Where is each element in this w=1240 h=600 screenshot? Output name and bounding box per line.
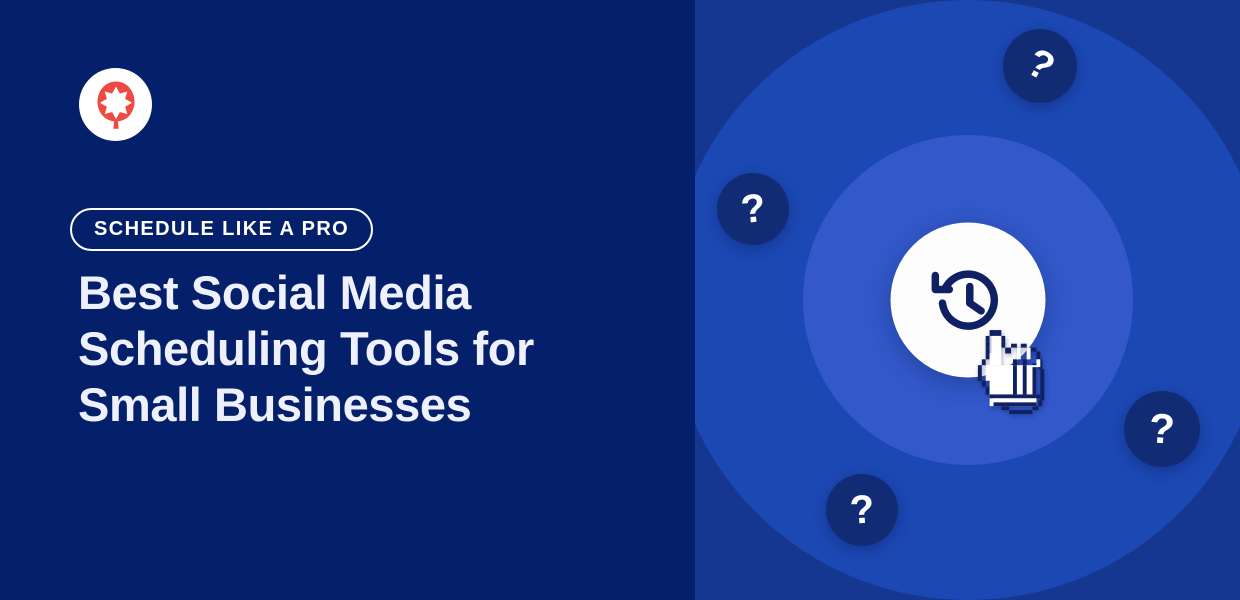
question-mark-glyph: ? xyxy=(1020,42,1060,89)
question-bubble-bottom-left: ? xyxy=(826,474,898,546)
banner-canvas: SCHEDULE LIKE A PRO Best Social Media Sc… xyxy=(0,0,1240,600)
question-bubble-top-right: ? xyxy=(1003,29,1077,103)
question-mark-glyph: ? xyxy=(1148,407,1177,451)
brand-logo[interactable] xyxy=(79,68,152,141)
balloon-sparkle-icon xyxy=(94,80,138,130)
question-bubble-bottom-right: ? xyxy=(1124,391,1200,467)
question-bubble-left: ? xyxy=(717,173,789,245)
question-mark-glyph: ? xyxy=(848,489,875,531)
question-mark-glyph: ? xyxy=(739,188,767,230)
headline-line-3: Small Businesses xyxy=(78,377,638,433)
eyebrow-badge: SCHEDULE LIKE A PRO xyxy=(70,208,373,251)
headline-line-1: Best Social Media xyxy=(78,265,638,321)
page-title: Best Social Media Scheduling Tools for S… xyxy=(78,265,638,433)
headline-line-2: Scheduling Tools for xyxy=(78,321,638,377)
illustration-panel: ? ? ? ? xyxy=(695,0,1240,600)
left-text-panel: SCHEDULE LIKE A PRO Best Social Media Sc… xyxy=(0,0,695,600)
pixel-pointing-hand-cursor xyxy=(974,326,1052,418)
